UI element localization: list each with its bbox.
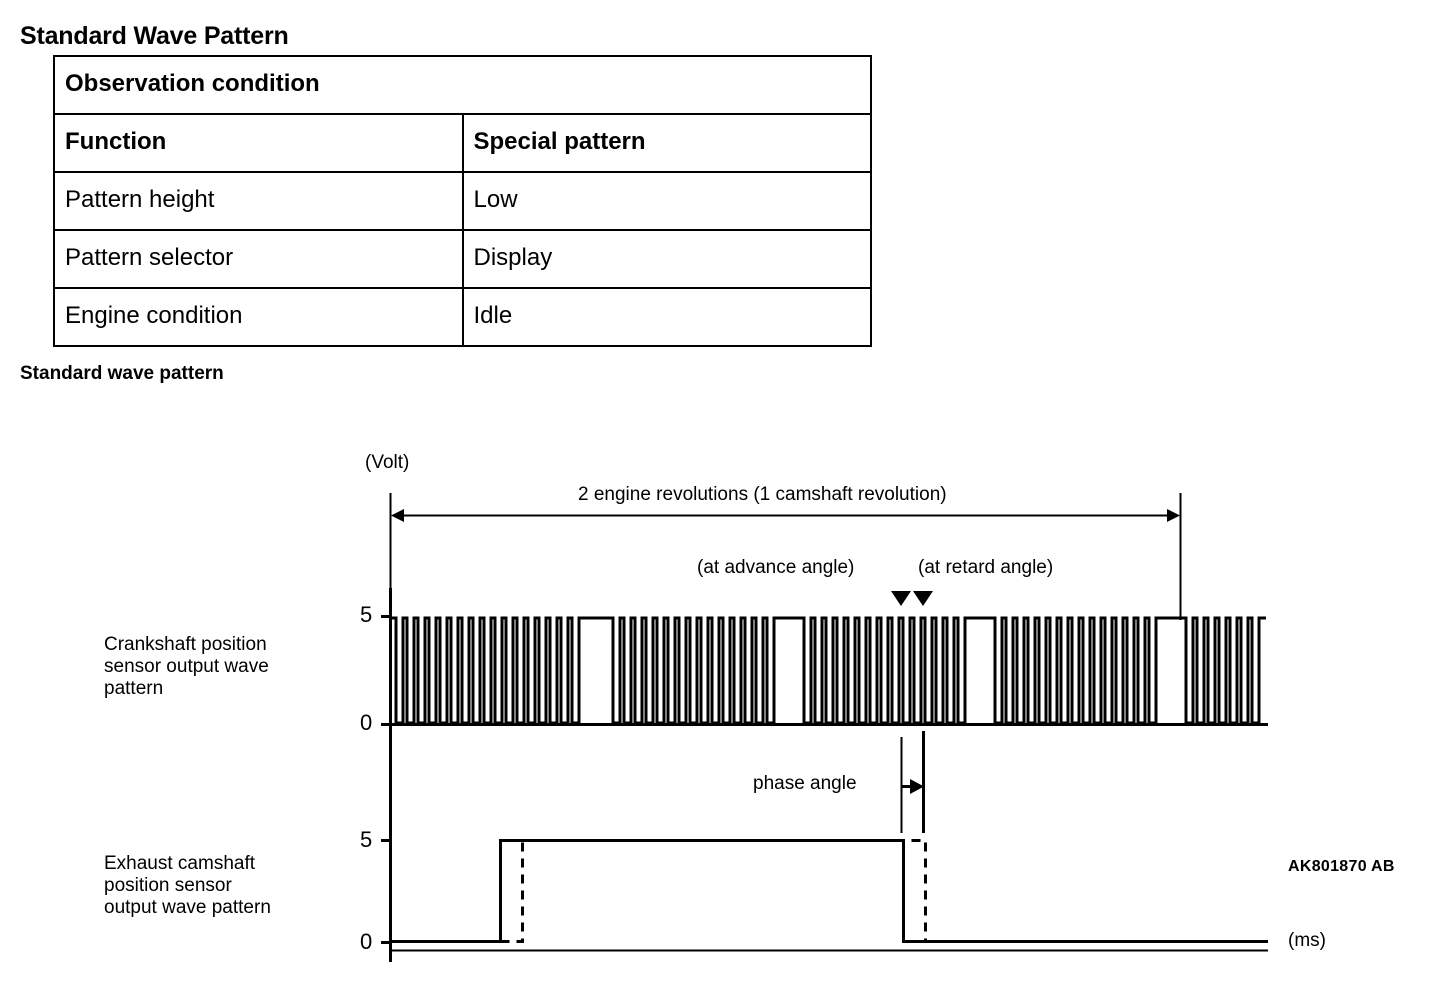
crankshaft-trace-label: Crankshaft position sensor output wave p… [104, 634, 269, 700]
crankshaft-waveform-trace [392, 618, 1266, 723]
x-axis-unit-label: (ms) [1288, 930, 1326, 952]
camshaft-retard-trace [501, 841, 948, 942]
camshaft-y-tick-label-5: 5 [360, 829, 372, 851]
y-axis-unit-label: (Volt) [365, 452, 409, 474]
span-annotation-label: 2 engine revolutions (1 camshaft revolut… [578, 484, 947, 506]
reference-code-label: AK801870 AB [1288, 858, 1395, 876]
camshaft-trace-label: Exhaust camshaft position sensor output … [104, 853, 271, 919]
retard-angle-label: (at retard angle) [918, 557, 1053, 579]
span-arrowhead-left-icon [391, 509, 404, 522]
span-arrowhead-right-icon [1167, 509, 1180, 522]
phase-angle-arrowhead-icon [910, 779, 924, 794]
waveform-figure: (Volt) 2 engine revolutions (1 camshaft … [0, 0, 1456, 1006]
phase-angle-label: phase angle [753, 773, 857, 795]
crankshaft-y-tick-label-5: 5 [360, 604, 372, 626]
retard-angle-triangle-icon [913, 591, 933, 606]
crankshaft-plot [381, 588, 1268, 760]
camshaft-y-tick-label-0: 0 [360, 931, 372, 953]
crankshaft-y-tick-label-0: 0 [360, 712, 372, 734]
camshaft-plot [381, 724, 1268, 962]
advance-angle-label: (at advance angle) [697, 557, 854, 579]
advance-angle-triangle-icon [891, 591, 911, 606]
